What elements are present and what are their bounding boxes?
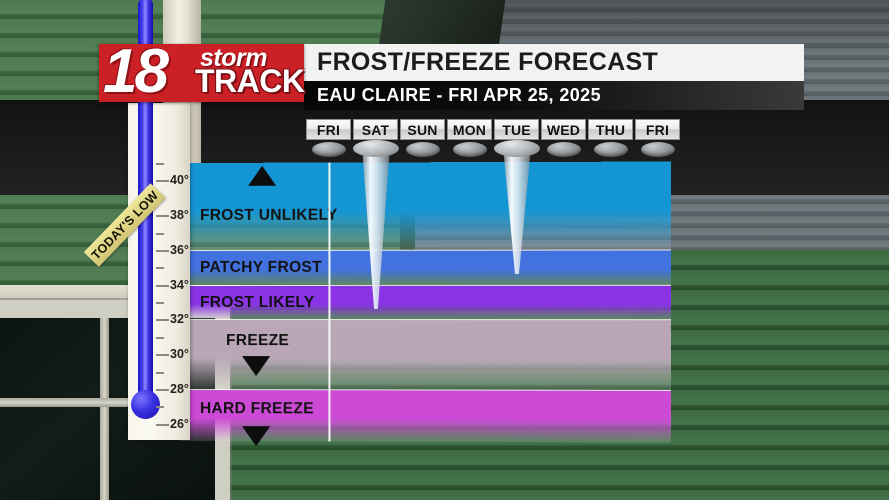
band-label-0: FROST UNLIKELY xyxy=(200,207,338,225)
icicle-stub-icon-fri-7 xyxy=(641,142,675,157)
title-bar: FROST/FREEZE FORECAST xyxy=(304,44,804,81)
day-header-tue-4: TUE xyxy=(494,119,539,140)
today-divider-line xyxy=(328,163,330,442)
subtitle-bar: EAU CLAIRE - FRI APR 25, 2025 xyxy=(304,81,804,110)
band-patchy-frost: PATCHY FROST xyxy=(180,249,671,284)
tick-label-34: 34° xyxy=(170,278,189,292)
frost-freeze-band-chart: FROST UNLIKELYPATCHY FROSTFROST LIKELYFR… xyxy=(180,162,671,443)
weather-graphic-stage: 18 storm TRACK FROST/FREEZE FORECAST EAU… xyxy=(0,0,889,500)
station-logo: 18 storm TRACK xyxy=(99,44,304,102)
tick-label-28: 28° xyxy=(170,382,189,396)
icicle-cap xyxy=(494,140,540,157)
tick-label-38: 38° xyxy=(170,208,189,222)
page-subtitle: EAU CLAIRE - FRI APR 25, 2025 xyxy=(317,85,601,106)
page-title: FROST/FREEZE FORECAST xyxy=(317,48,658,77)
arrow-down-icon xyxy=(242,356,270,376)
day-header-sun-2: SUN xyxy=(400,119,445,140)
day-header-thu-6: THU xyxy=(588,119,633,140)
tick-major-34 xyxy=(156,285,169,287)
tick-label-32: 32° xyxy=(170,312,189,326)
band-label-3: FREEZE xyxy=(226,332,289,350)
tick-label-30: 30° xyxy=(170,347,189,361)
window-mullion-vertical xyxy=(100,318,109,500)
icicle-stub-icon-sun-2 xyxy=(406,142,440,157)
tick-major-30 xyxy=(156,354,169,356)
tick-major-26 xyxy=(156,424,169,426)
tick-minor-35 xyxy=(156,267,164,269)
logo-channel-number: 18 xyxy=(103,41,166,103)
tick-minor-27 xyxy=(156,406,164,408)
arrow-down-icon xyxy=(242,426,270,446)
thermometer-bulb xyxy=(131,390,160,419)
tick-major-28 xyxy=(156,389,169,391)
band-label-2: FROST LIKELY xyxy=(200,294,314,312)
band-label-4: HARD FREEZE xyxy=(200,400,314,418)
arrow-up-icon xyxy=(248,166,276,186)
tick-major-36 xyxy=(156,250,169,252)
tick-minor-29 xyxy=(156,372,164,374)
day-header-strip: FRISATSUNMONTUEWEDTHUFRI xyxy=(306,119,680,140)
day-header-fri-7: FRI xyxy=(635,119,680,140)
tick-minor-37 xyxy=(156,233,164,235)
tick-label-36: 36° xyxy=(170,243,189,257)
band-hard-freeze: HARD FREEZE xyxy=(180,389,671,443)
icicle-stub-icon-wed-5 xyxy=(547,142,581,157)
icicle-stub-icon-fri-0 xyxy=(312,142,346,157)
tick-major-32 xyxy=(156,319,169,321)
tick-major-40 xyxy=(156,180,169,182)
icicle-stub-icon-mon-3 xyxy=(453,142,487,157)
tick-minor-31 xyxy=(156,337,164,339)
band-frost-likely: FROST LIKELY xyxy=(180,284,671,319)
logo-track-text: TRACK xyxy=(195,65,304,97)
tick-label-26: 26° xyxy=(170,417,189,431)
thermometer-icon: 40°38°36°34°32°30°28°26° xyxy=(128,103,190,440)
icicle-cap xyxy=(353,140,399,157)
tick-label-40: 40° xyxy=(170,173,189,187)
day-header-mon-3: MON xyxy=(447,119,492,140)
day-header-wed-5: WED xyxy=(541,119,586,140)
tick-minor-33 xyxy=(156,302,164,304)
day-header-sat-1: SAT xyxy=(353,119,398,140)
tick-major-38 xyxy=(156,215,169,217)
day-header-fri-0: FRI xyxy=(306,119,351,140)
tick-minor-41 xyxy=(156,163,164,165)
band-label-1: PATCHY FROST xyxy=(200,259,322,277)
icicle-stub-icon-thu-6 xyxy=(594,142,628,157)
band-frost-unlikely: FROST UNLIKELY xyxy=(180,162,671,250)
band-freeze: FREEZE xyxy=(180,319,671,389)
